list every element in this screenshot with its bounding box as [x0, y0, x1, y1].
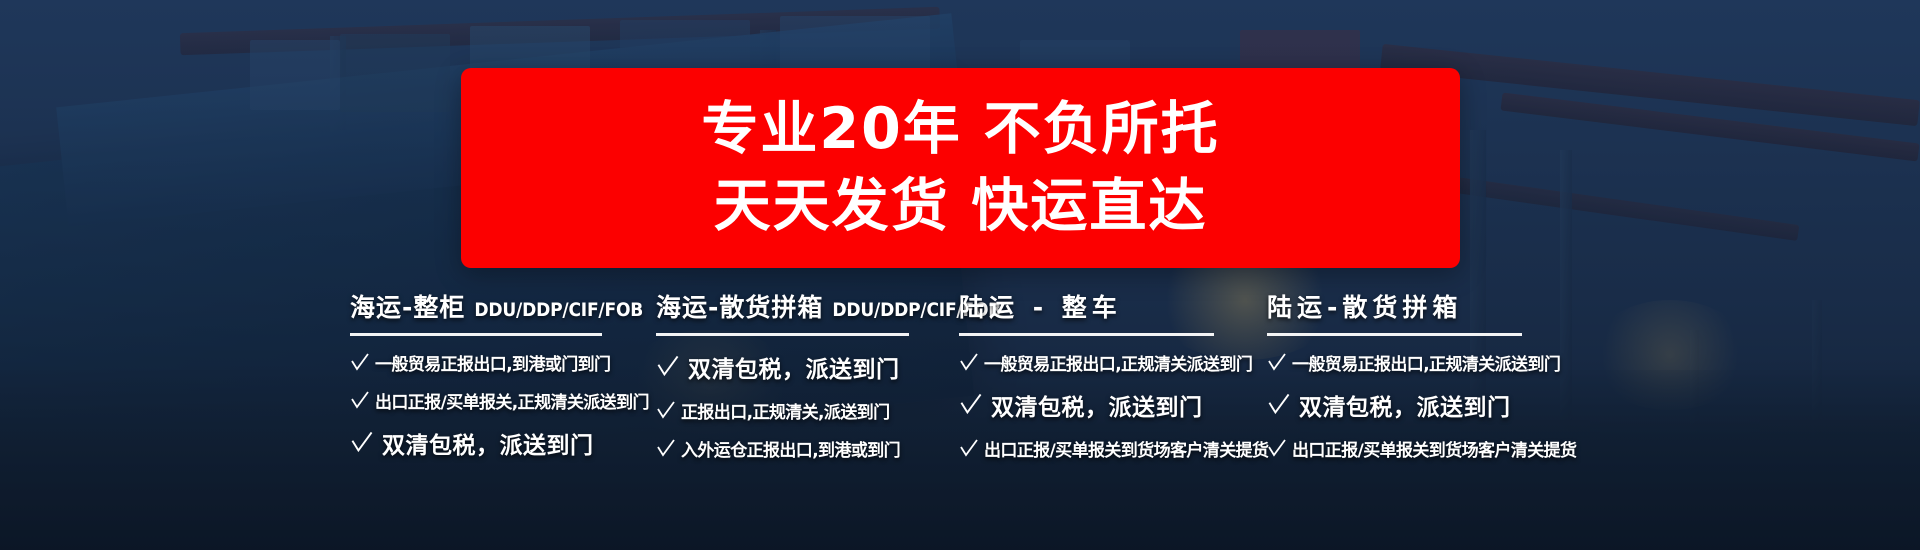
service-column-land-ftl: 陆运 - 整车 一般贸易正报出口,正规清关派送到门 双清包税，派送到门 出口正报… [959, 288, 1267, 474]
service-item-text: 一般贸易正报出口,正规清关派送到门 [1292, 350, 1560, 375]
service-item-text: 双清包税，派送到门 [1299, 388, 1511, 422]
check-icon [959, 438, 979, 458]
service-item: 出口正报/买单报关到货场客户清关提货 [959, 436, 1267, 461]
check-icon [959, 352, 979, 372]
service-item-text: 出口正报/买单报关到货场客户清关提货 [1292, 436, 1576, 461]
check-icon [350, 430, 374, 454]
service-column-title: 海运-散货拼箱 [656, 288, 823, 324]
service-item: 一般贸易正报出口,正规清关派送到门 [1267, 350, 1600, 375]
service-item: 一般贸易正报出口,到港或门到门 [350, 350, 656, 375]
check-icon [656, 354, 680, 378]
service-item: 入外运仓正报出口,到港或到门 [656, 436, 959, 461]
service-column-sea-fcl: 海运-整柜 DDU/DDP/CIF/FOB 一般贸易正报出口,到港或门到门 出口… [350, 288, 656, 474]
service-item-text: 双清包税，派送到门 [688, 350, 900, 384]
service-item: 双清包税，派送到门 [350, 426, 656, 460]
check-icon [350, 352, 370, 372]
service-column-title: 陆运 - 整车 [959, 288, 1122, 324]
header-divider [656, 333, 909, 336]
service-item-list: 一般贸易正报出口,正规清关派送到门 双清包税，派送到门 出口正报/买单报关到货场… [959, 350, 1267, 461]
service-item-text: 入外运仓正报出口,到港或到门 [681, 436, 900, 461]
headline-line-1: 专业20年 不负所托 [701, 101, 1219, 158]
service-column-header: 海运-整柜 DDU/DDP/CIF/FOB [350, 288, 656, 324]
service-item-text: 双清包税，派送到门 [382, 426, 594, 460]
service-item: 双清包税，派送到门 [959, 388, 1267, 422]
service-item-text: 出口正报/买单报关到货场客户清关提货 [984, 436, 1268, 461]
service-item-list: 一般贸易正报出口,到港或门到门 出口正报/买单报关,正规清关派送到门 双清包税，… [350, 350, 656, 460]
check-icon [656, 438, 676, 458]
check-icon [1267, 438, 1287, 458]
promo-banner: 专业20年 不负所托 天天发货 快运直达 海运-整柜 DDU/DDP/CIF/F… [0, 0, 1920, 550]
service-column-subtitle: DDU/DDP/CIF/FOB [474, 299, 643, 321]
check-icon [1267, 352, 1287, 372]
check-icon [1267, 392, 1291, 416]
header-divider [350, 333, 602, 336]
service-item: 一般贸易正报出口,正规清关派送到门 [959, 350, 1267, 375]
service-item-list: 一般贸易正报出口,正规清关派送到门 双清包税，派送到门 出口正报/买单报关到货场… [1267, 350, 1600, 461]
service-item-text: 正报出口,正规清关,派送到门 [681, 398, 890, 423]
service-column-land-lcl: 陆运-散货拼箱 一般贸易正报出口,正规清关派送到门 双清包税，派送到门 出口正报… [1267, 288, 1600, 474]
service-column-title: 陆运-散货拼箱 [1267, 288, 1462, 324]
service-column-title: 海运-整柜 [350, 288, 465, 324]
header-divider [1267, 333, 1522, 336]
service-columns: 海运-整柜 DDU/DDP/CIF/FOB 一般贸易正报出口,到港或门到门 出口… [350, 288, 1600, 498]
service-column-header: 陆运 - 整车 [959, 288, 1267, 324]
check-icon [656, 400, 676, 420]
headline-line-2: 天天发货 快运直达 [714, 178, 1208, 235]
service-column-header: 陆运-散货拼箱 [1267, 288, 1600, 324]
service-item: 出口正报/买单报关,正规清关派送到门 [350, 388, 656, 413]
headline-plaque: 专业20年 不负所托 天天发货 快运直达 [461, 68, 1460, 268]
service-item: 出口正报/买单报关到货场客户清关提货 [1267, 436, 1600, 461]
check-icon [959, 392, 983, 416]
service-item: 双清包税，派送到门 [656, 350, 959, 384]
header-divider [959, 333, 1214, 336]
service-item-text: 双清包税，派送到门 [991, 388, 1203, 422]
service-item-text: 一般贸易正报出口,到港或门到门 [375, 350, 610, 375]
service-column-sea-lcl: 海运-散货拼箱 DDU/DDP/CIF/FOB 双清包税，派送到门 正报出口,正… [656, 288, 959, 474]
service-item-list: 双清包税，派送到门 正报出口,正规清关,派送到门 入外运仓正报出口,到港或到门 [656, 350, 959, 461]
service-item-text: 出口正报/买单报关,正规清关派送到门 [375, 388, 649, 413]
service-item: 双清包税，派送到门 [1267, 388, 1600, 422]
service-item: 正报出口,正规清关,派送到门 [656, 398, 959, 423]
service-item-text: 一般贸易正报出口,正规清关派送到门 [984, 350, 1252, 375]
check-icon [350, 390, 370, 410]
service-column-header: 海运-散货拼箱 DDU/DDP/CIF/FOB [656, 288, 959, 324]
